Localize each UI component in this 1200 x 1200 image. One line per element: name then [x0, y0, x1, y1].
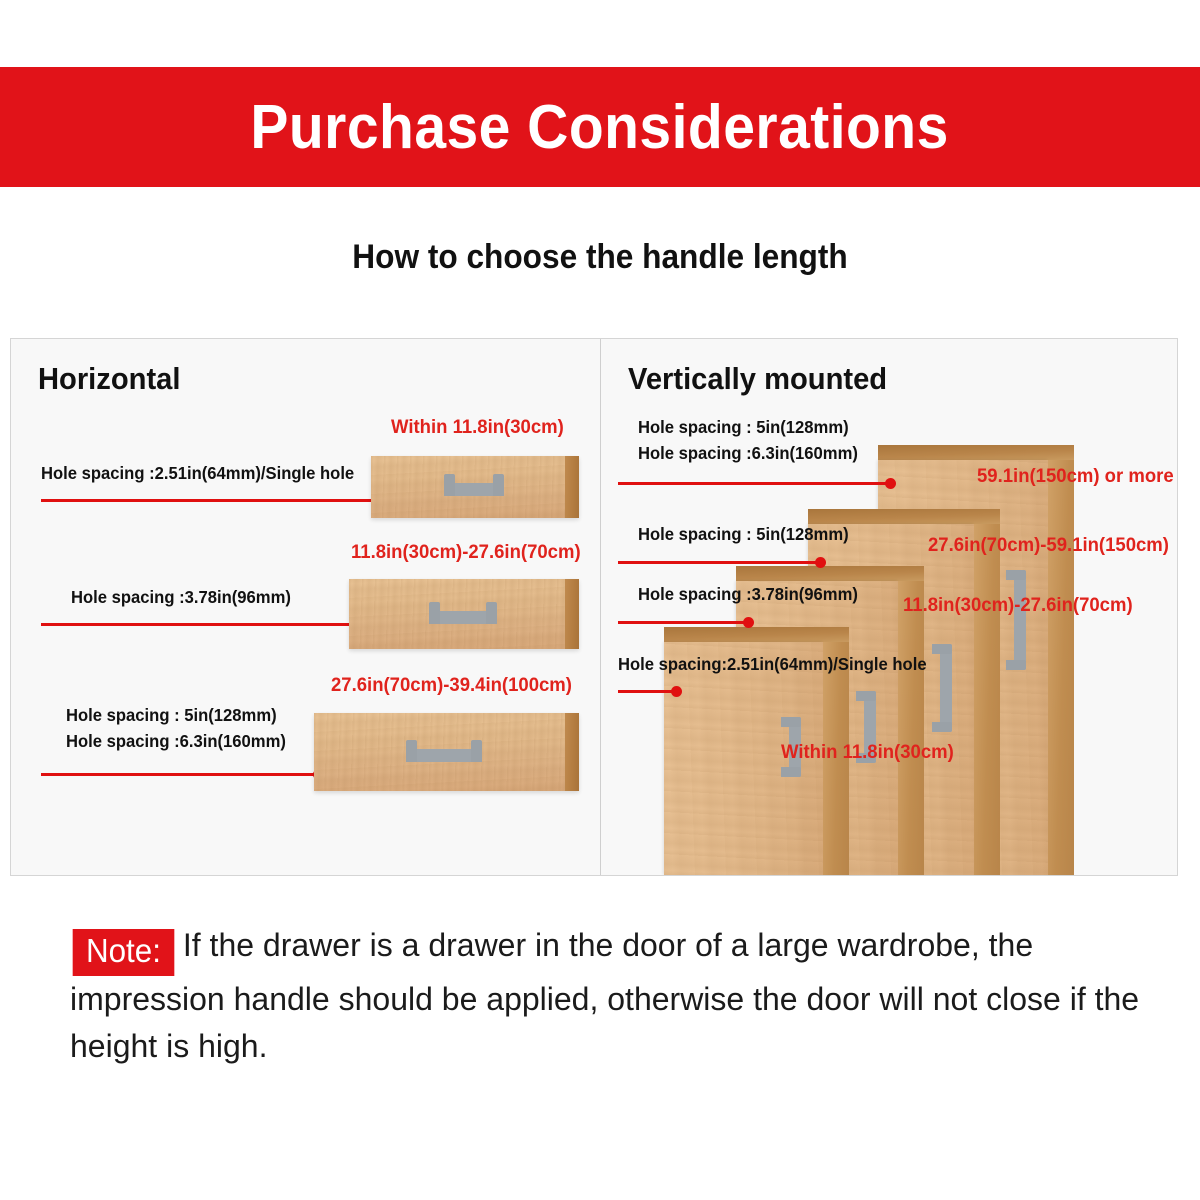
- spec-label-vertical-1b: Hole spacing :6.3in(160mm): [638, 443, 858, 464]
- drawer-side-edge: [565, 579, 579, 649]
- door-top-bevel: [736, 566, 924, 581]
- door-top-bevel: [808, 509, 1000, 524]
- door-side-face: [1048, 460, 1074, 875]
- spec-label-horizontal-3b: Hole spacing :6.3in(160mm): [66, 731, 286, 752]
- leader-line-horizontal-2: [41, 623, 373, 626]
- door-top-bevel: [878, 445, 1074, 460]
- range-label-horizontal-1: Within 11.8in(30cm): [391, 416, 564, 439]
- leader-line-vertical-2: [618, 561, 820, 564]
- range-label-vertical-2: 27.6in(70cm)-59.1in(150cm): [928, 534, 1169, 557]
- door-side-face: [898, 581, 924, 875]
- leader-line-horizontal-1: [41, 499, 401, 502]
- comparison-panels: Horizontal Within 11.8in(30cm) Hole spac…: [10, 338, 1178, 876]
- spec-label-vertical-4: Hole spacing:2.51in(64mm)/Single hole: [618, 654, 927, 675]
- spec-label-vertical-1a: Hole spacing : 5in(128mm): [638, 417, 849, 438]
- spec-label-vertical-3: Hole spacing :3.78in(96mm): [638, 584, 858, 605]
- drawer-handle-icon-3: [406, 749, 482, 762]
- door-side-face: [974, 524, 1000, 875]
- panel-vertical: Vertically mounted Hole spaci: [601, 339, 1178, 875]
- range-label-vertical-3: 11.8in(30cm)-27.6in(70cm): [903, 594, 1133, 617]
- door-top-bevel: [664, 627, 849, 642]
- leader-line-vertical-3: [618, 621, 748, 624]
- spec-label-horizontal-1: Hole spacing :2.51in(64mm)/Single hole: [41, 463, 354, 484]
- range-label-vertical-4: Within 11.8in(30cm): [781, 741, 954, 764]
- range-label-horizontal-2: 11.8in(30cm)-27.6in(70cm): [351, 541, 581, 564]
- door-handle-icon-3: [940, 644, 952, 732]
- panel-heading-vertical: Vertically mounted: [628, 361, 887, 397]
- drawer-graphic-1: [371, 456, 579, 518]
- leader-dot-vertical-4: [671, 686, 682, 697]
- drawer-handle-icon-2: [429, 611, 497, 624]
- panel-heading-horizontal: Horizontal: [38, 361, 180, 397]
- leader-line-vertical-4: [618, 690, 676, 693]
- spec-label-horizontal-3a: Hole spacing : 5in(128mm): [66, 705, 277, 726]
- drawer-side-edge: [565, 456, 579, 518]
- spec-label-horizontal-2: Hole spacing :3.78in(96mm): [71, 587, 291, 608]
- drawer-handle-icon-1: [444, 483, 504, 496]
- leader-dot-vertical-2: [815, 557, 826, 568]
- drawer-side-edge: [565, 713, 579, 791]
- door-handle-icon-4: [1014, 570, 1026, 670]
- spec-label-vertical-2: Hole spacing : 5in(128mm): [638, 524, 849, 545]
- leader-dot-vertical-3: [743, 617, 754, 628]
- page-title: Purchase Considerations: [251, 92, 949, 163]
- note-text: If the drawer is a drawer in the door of…: [70, 927, 1139, 1064]
- header-banner: Purchase Considerations: [0, 67, 1200, 187]
- range-label-vertical-1: 59.1in(150cm) or more: [977, 465, 1174, 488]
- leader-line-vertical-1: [618, 482, 890, 485]
- leader-line-horizontal-3: [41, 773, 319, 776]
- note-block: Note:If the drawer is a drawer in the do…: [70, 922, 1140, 1071]
- note-badge: Note:: [73, 929, 175, 976]
- section-subtitle: How to choose the handle length: [42, 238, 1158, 277]
- range-label-horizontal-3: 27.6in(70cm)-39.4in(100cm): [331, 674, 572, 697]
- drawer-graphic-2: [349, 579, 579, 649]
- drawer-graphic-3: [314, 713, 579, 791]
- leader-dot-vertical-1: [885, 478, 896, 489]
- panel-horizontal: Horizontal Within 11.8in(30cm) Hole spac…: [11, 339, 601, 875]
